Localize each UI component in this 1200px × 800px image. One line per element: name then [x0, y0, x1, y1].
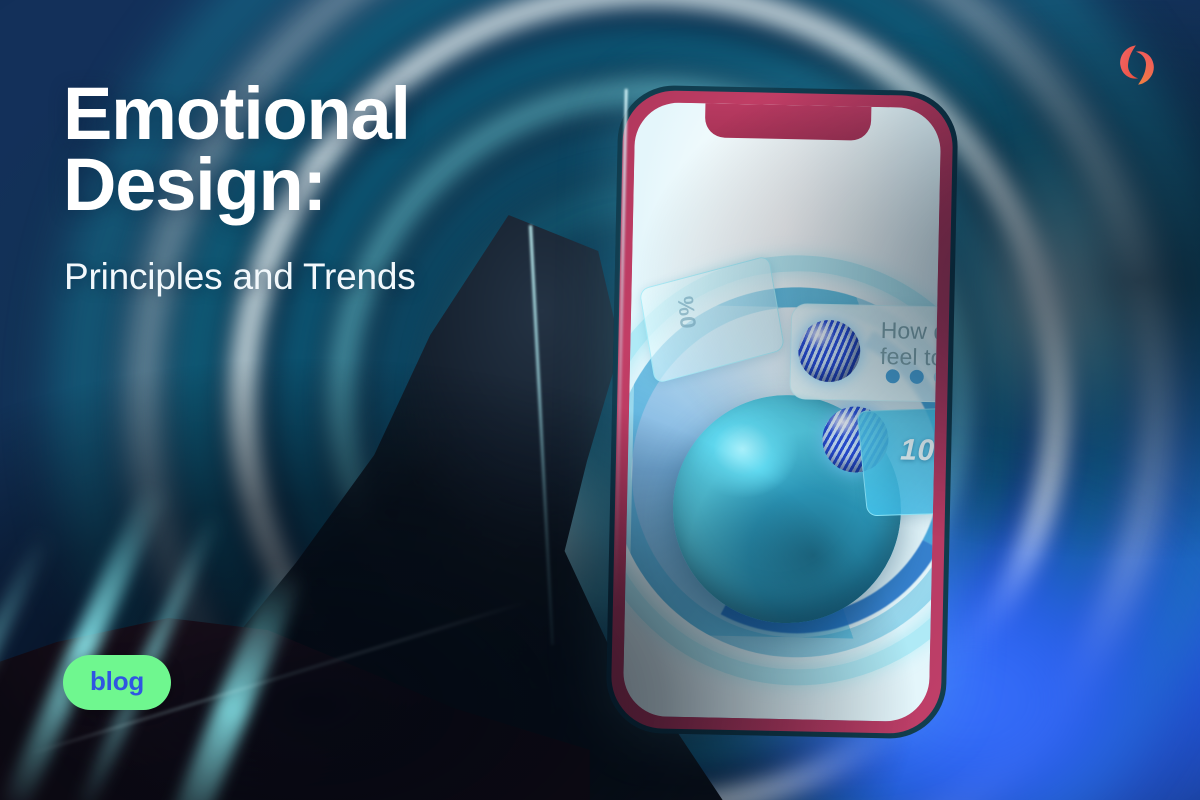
- blog-badge[interactable]: blog: [63, 655, 171, 710]
- page-subtitle: Principles and Trends: [64, 256, 624, 298]
- page-title: Emotional Design:: [63, 78, 623, 220]
- banner-canvas: 0% 100% How do you feel today?: [0, 0, 1200, 800]
- company-logo[interactable]: [1112, 40, 1162, 90]
